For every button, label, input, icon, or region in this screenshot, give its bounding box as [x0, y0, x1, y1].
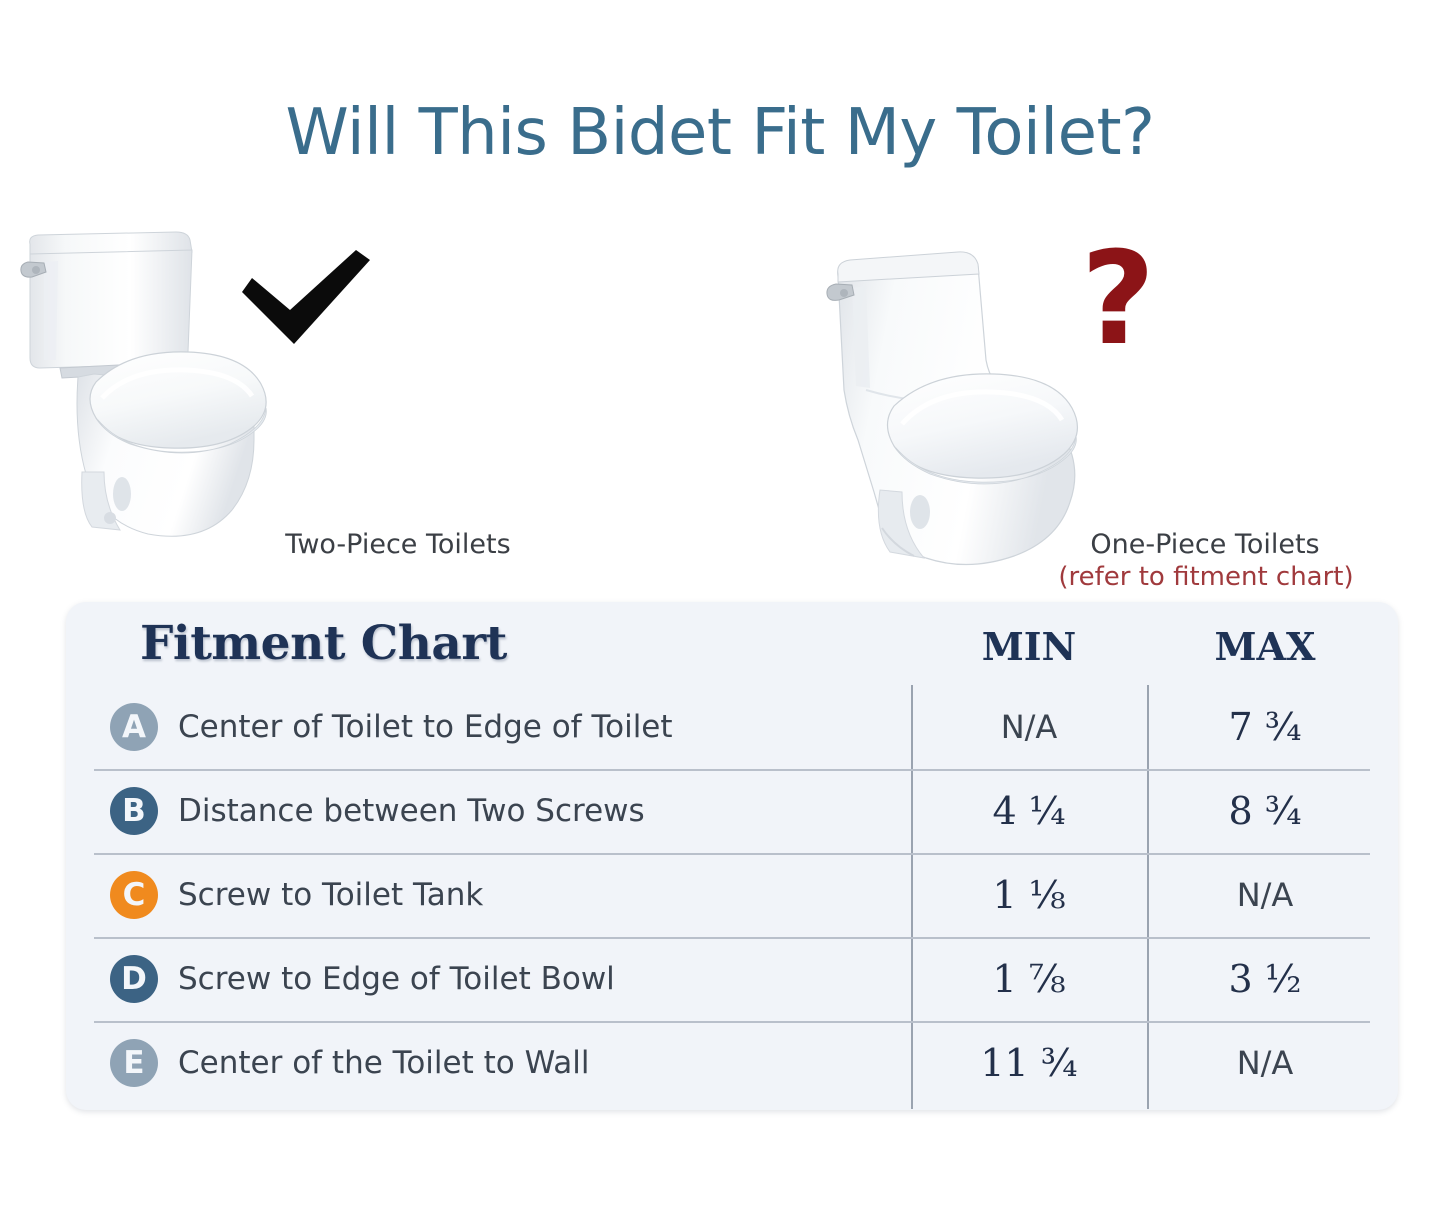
page-title: Will This Bidet Fit My Toilet? [0, 96, 1440, 170]
row-badge-d: D [110, 955, 158, 1003]
table-row: B Distance between Two Screws 4 ¼ 8 ¾ [66, 769, 1398, 853]
table-row: E Center of the Toilet to Wall 11 ¾ N/A [66, 1021, 1398, 1105]
row-min-d: 1 ⅞ [911, 951, 1147, 1007]
row-badge-b: B [110, 787, 158, 835]
row-min-b: 4 ¼ [911, 783, 1147, 839]
column-header-max: MAX [1147, 624, 1383, 669]
row-min-e: 11 ¾ [911, 1035, 1147, 1091]
row-divider [94, 937, 1370, 939]
row-min-c: 1 ⅛ [911, 867, 1147, 923]
row-label-d: Screw to Edge of Toilet Bowl [178, 953, 615, 1005]
row-badge-e: E [110, 1039, 158, 1087]
fitment-chart-title: Fitment Chart [140, 616, 507, 671]
row-divider [94, 1021, 1370, 1023]
row-max-b: 8 ¾ [1147, 783, 1383, 839]
check-mark-icon [236, 248, 376, 348]
row-max-c: N/A [1147, 867, 1383, 923]
one-piece-caption: One-Piece Toilets [1020, 529, 1390, 560]
column-header-min: MIN [911, 624, 1147, 669]
infographic-page: Will This Bidet Fit My Toilet? [0, 0, 1440, 1223]
table-row: A Center of Toilet to Edge of Toilet N/A… [66, 685, 1398, 769]
question-mark-icon: ? [1058, 240, 1178, 370]
row-label-a: Center of Toilet to Edge of Toilet [178, 701, 673, 753]
one-piece-caption-note: (refer to fitment chart) [1006, 562, 1406, 592]
row-max-d: 3 ½ [1147, 951, 1383, 1007]
row-label-b: Distance between Two Screws [178, 785, 645, 837]
row-divider [94, 853, 1370, 855]
row-label-c: Screw to Toilet Tank [178, 869, 483, 921]
row-max-a: 7 ¾ [1147, 699, 1383, 755]
row-badge-a: A [110, 703, 158, 751]
table-row: D Screw to Edge of Toilet Bowl 1 ⅞ 3 ½ [66, 937, 1398, 1021]
row-min-a: N/A [911, 699, 1147, 755]
row-label-e: Center of the Toilet to Wall [178, 1037, 589, 1089]
row-max-e: N/A [1147, 1035, 1383, 1091]
table-row: C Screw to Toilet Tank 1 ⅛ N/A [66, 853, 1398, 937]
row-badge-c: C [110, 871, 158, 919]
row-divider [94, 769, 1370, 771]
fitment-chart-card: Fitment Chart MIN MAX A Center of Toilet… [66, 602, 1398, 1110]
two-piece-caption: Two-Piece Toilets [188, 529, 608, 560]
